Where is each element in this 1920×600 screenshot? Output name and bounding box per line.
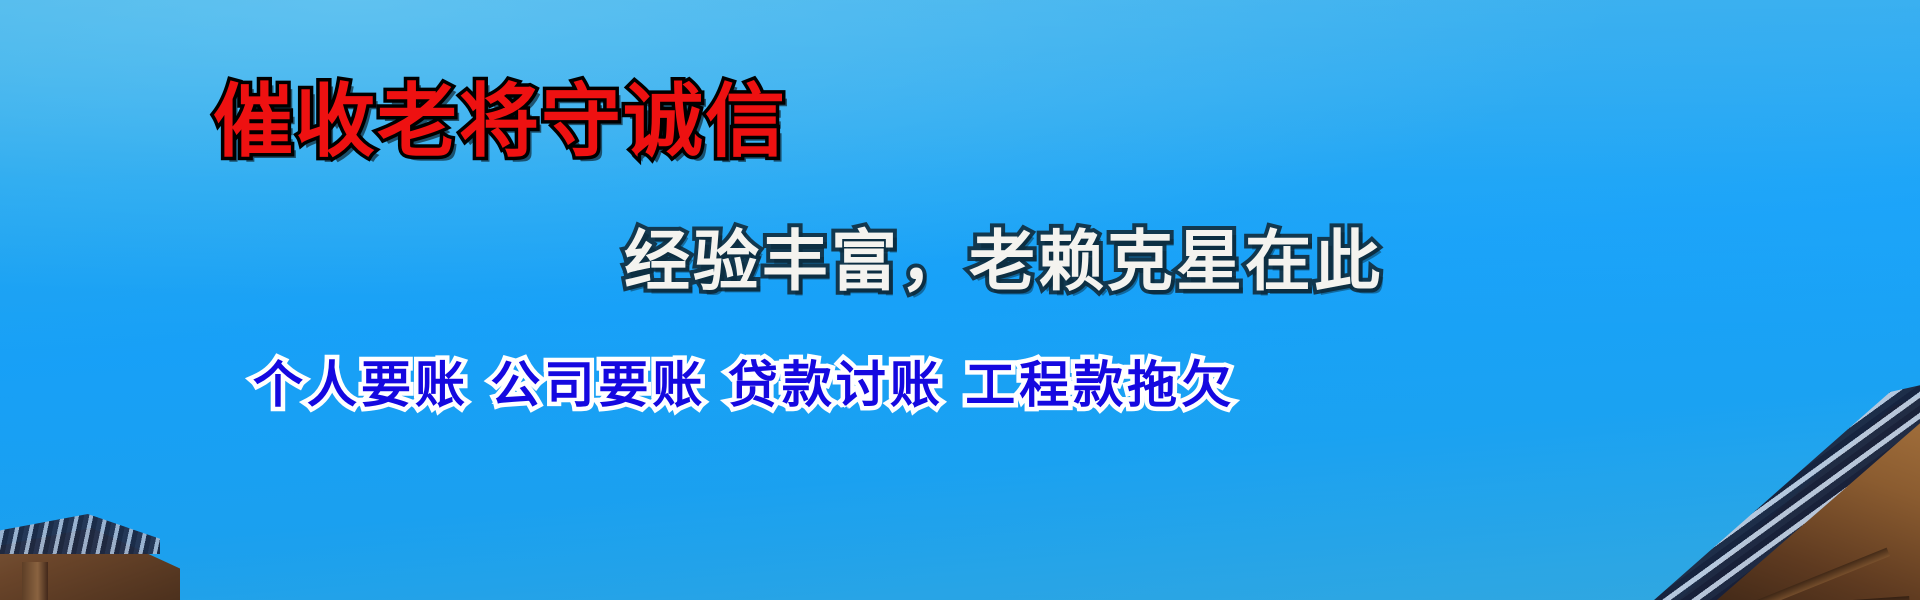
temple-roof-bottom-right	[1630, 378, 1920, 600]
promotional-banner: 催收老将守诚信 经验丰富，老赖克星在此 个人要账 公司要账 贷款讨账 工程款拖欠	[0, 0, 1920, 600]
roof-post-left	[22, 562, 48, 600]
headline-secondary: 经验丰富，老赖克星在此	[624, 229, 1383, 295]
headline-primary: 催收老将守诚信	[213, 82, 787, 162]
temple-roof-bottom-left	[0, 476, 200, 600]
roof-tiles-left	[0, 514, 160, 554]
service-list-text: 个人要账 公司要账 贷款讨账 工程款拖欠	[253, 360, 1235, 410]
